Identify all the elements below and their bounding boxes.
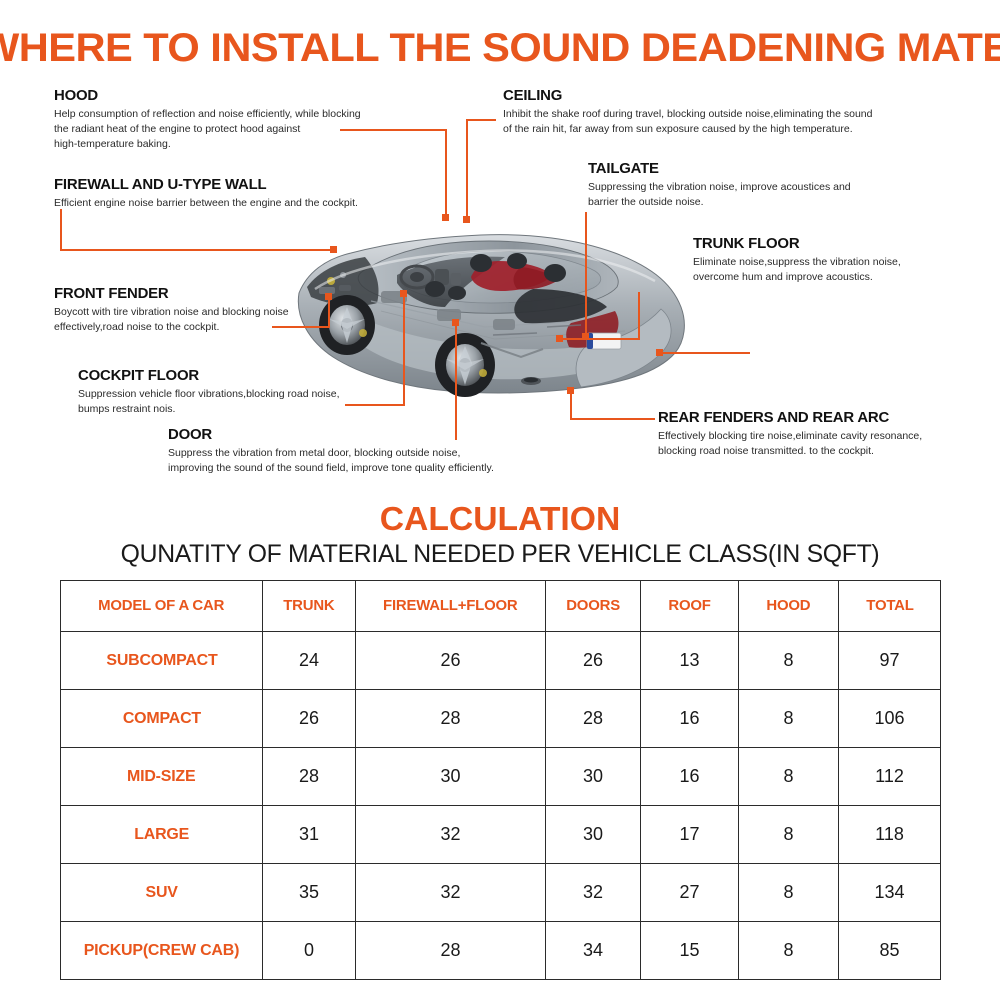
callout-firewall-body: Efficient engine noise barrier between t…: [54, 196, 454, 211]
callout-door-title: DOOR: [168, 427, 580, 443]
connector-ceiling-vertical: [466, 119, 468, 220]
callout-firewall: FIREWALL AND U-TYPE WALL Efficient engin…: [54, 177, 454, 211]
cell-firewall-floor: 28: [356, 690, 546, 748]
cell-hood: 8: [739, 748, 839, 806]
table-row: SUV 35 32 32 27 8 134: [61, 864, 941, 922]
cell-hood: 8: [739, 864, 839, 922]
connector-hood-endpoint: [442, 214, 449, 221]
row-label-large: LARGE: [61, 806, 263, 864]
cell-total: 118: [839, 806, 941, 864]
callout-front-fender-body: Boycott with tire vibration noise and bl…: [54, 305, 384, 335]
callout-hood-title: HOOD: [54, 88, 456, 104]
callout-tailgate: TAILGATE Suppressing the vibration noise…: [588, 161, 918, 210]
callout-door-body: Suppress the vibration from metal door, …: [168, 446, 568, 476]
table-row: LARGE 31 32 30 17 8 118: [61, 806, 941, 864]
cell-trunk: 35: [263, 864, 356, 922]
callout-rear-fenders-title: REAR FENDERS AND REAR ARC: [658, 410, 998, 426]
connector-trunk-floor-endpoint: [556, 335, 563, 342]
cell-doors: 30: [546, 806, 641, 864]
callout-tailgate-title: TAILGATE: [588, 161, 928, 177]
connector-ceiling-endpoint: [463, 216, 470, 223]
row-label-compact: COMPACT: [61, 690, 263, 748]
cell-roof: 17: [641, 806, 739, 864]
cell-hood: 8: [739, 690, 839, 748]
connector-trunk-floor-horizontal: [560, 338, 640, 340]
infographic-page: WHERE TO INSTALL THE SOUND DEADENING MAT…: [0, 0, 1000, 1000]
cell-firewall-floor: 28: [356, 922, 546, 980]
table-row: PICKUP(CREW CAB) 0 28 34 15 8 85: [61, 922, 941, 980]
table-header-row: MODEL OF A CAR TRUNK FIREWALL+FLOOR DOOR…: [61, 581, 941, 632]
callout-ceiling: CEILING Inhibit the shake roof during tr…: [503, 88, 973, 137]
table-row: MID-SIZE 28 30 30 16 8 112: [61, 748, 941, 806]
callout-cockpit-floor-body: Suppression vehicle floor vibrations,blo…: [78, 387, 408, 417]
callout-door: DOOR Suppress the vibration from metal d…: [168, 427, 568, 476]
connector-door-endpoint: [452, 319, 459, 326]
cell-total: 134: [839, 864, 941, 922]
table-row: COMPACT 26 28 28 16 8 106: [61, 690, 941, 748]
cell-roof: 16: [641, 690, 739, 748]
column-header-total: TOTAL: [839, 581, 941, 632]
connector-tailgate-vertical: [585, 212, 587, 336]
callout-cockpit-floor-title: COCKPIT FLOOR: [78, 368, 418, 384]
callout-trunk-floor: TRUNK FLOOR Eliminate noise,suppress the…: [693, 236, 993, 285]
callout-ceiling-body: Inhibit the shake roof during travel, bl…: [503, 107, 973, 137]
page-title: WHERE TO INSTALL THE SOUND DEADENING MAT…: [0, 26, 1000, 71]
callout-trunk-floor-body: Eliminate noise,suppress the vibration n…: [693, 255, 993, 285]
cell-hood: 8: [739, 806, 839, 864]
cell-firewall-floor: 26: [356, 632, 546, 690]
table-row: SUBCOMPACT 24 26 26 13 8 97: [61, 632, 941, 690]
cell-total: 97: [839, 632, 941, 690]
callout-front-fender-title: FRONT FENDER: [54, 286, 394, 302]
callout-firewall-title: FIREWALL AND U-TYPE WALL: [54, 177, 466, 193]
connector-rear-fenders-lower-vertical: [570, 390, 572, 420]
cell-hood: 8: [739, 922, 839, 980]
cell-trunk: 0: [263, 922, 356, 980]
connector-rear-fenders-lower-horizontal: [570, 418, 655, 420]
callout-hood-body: Help consumption of reflection and noise…: [54, 107, 444, 152]
callout-rear-fenders: REAR FENDERS AND REAR ARC Effectively bl…: [658, 410, 988, 459]
cell-trunk: 24: [263, 632, 356, 690]
connector-firewall-endpoint: [330, 246, 337, 253]
cell-roof: 16: [641, 748, 739, 806]
cell-doors: 26: [546, 632, 641, 690]
connector-cockpit-floor-endpoint: [400, 290, 407, 297]
callout-trunk-floor-title: TRUNK FLOOR: [693, 236, 1000, 252]
column-header-model: MODEL OF A CAR: [61, 581, 263, 632]
row-label-mid-size: MID-SIZE: [61, 748, 263, 806]
column-header-doors: DOORS: [546, 581, 641, 632]
callout-hood: HOOD Help consumption of reflection and …: [54, 88, 444, 152]
connector-door-vertical: [455, 322, 457, 440]
callout-ceiling-title: CEILING: [503, 88, 987, 104]
cell-doors: 32: [546, 864, 641, 922]
cell-roof: 27: [641, 864, 739, 922]
cell-trunk: 26: [263, 690, 356, 748]
cell-total: 112: [839, 748, 941, 806]
calculation-heading: CALCULATION: [0, 500, 1000, 538]
column-header-roof: ROOF: [641, 581, 739, 632]
connector-trunk-floor-vertical: [638, 292, 640, 340]
cell-trunk: 31: [263, 806, 356, 864]
cell-doors: 34: [546, 922, 641, 980]
cell-hood: 8: [739, 632, 839, 690]
cell-roof: 13: [641, 632, 739, 690]
column-header-firewall-floor: FIREWALL+FLOOR: [356, 581, 546, 632]
callout-cockpit-floor: COCKPIT FLOOR Suppression vehicle floor …: [78, 368, 408, 417]
connector-rear-fenders-lower-endpoint: [567, 387, 574, 394]
cell-trunk: 28: [263, 748, 356, 806]
cell-total: 106: [839, 690, 941, 748]
cell-firewall-floor: 32: [356, 806, 546, 864]
material-quantity-table: MODEL OF A CAR TRUNK FIREWALL+FLOOR DOOR…: [60, 580, 941, 980]
callout-tailgate-body: Suppressing the vibration noise, improve…: [588, 180, 918, 210]
callout-front-fender: FRONT FENDER Boycott with tire vibration…: [54, 286, 384, 335]
connector-rear-fenders-horizontal: [660, 352, 750, 354]
row-label-suv: SUV: [61, 864, 263, 922]
row-label-pickup-crew-cab: PICKUP(CREW CAB): [61, 922, 263, 980]
cell-roof: 15: [641, 922, 739, 980]
connector-ceiling-horizontal: [466, 119, 496, 121]
column-header-hood: HOOD: [739, 581, 839, 632]
connector-firewall-vertical: [60, 209, 62, 251]
calculation-subheading: QUNATITY OF MATERIAL NEEDED PER VEHICLE …: [5, 540, 995, 569]
column-header-trunk: TRUNK: [263, 581, 356, 632]
connector-rear-fenders-endpoint: [656, 349, 663, 356]
cell-firewall-floor: 30: [356, 748, 546, 806]
callout-rear-fenders-body: Effectively blocking tire noise,eliminat…: [658, 429, 988, 459]
cell-total: 85: [839, 922, 941, 980]
cell-doors: 28: [546, 690, 641, 748]
cell-doors: 30: [546, 748, 641, 806]
connector-firewall-horizontal: [60, 249, 333, 251]
row-label-subcompact: SUBCOMPACT: [61, 632, 263, 690]
cell-firewall-floor: 32: [356, 864, 546, 922]
